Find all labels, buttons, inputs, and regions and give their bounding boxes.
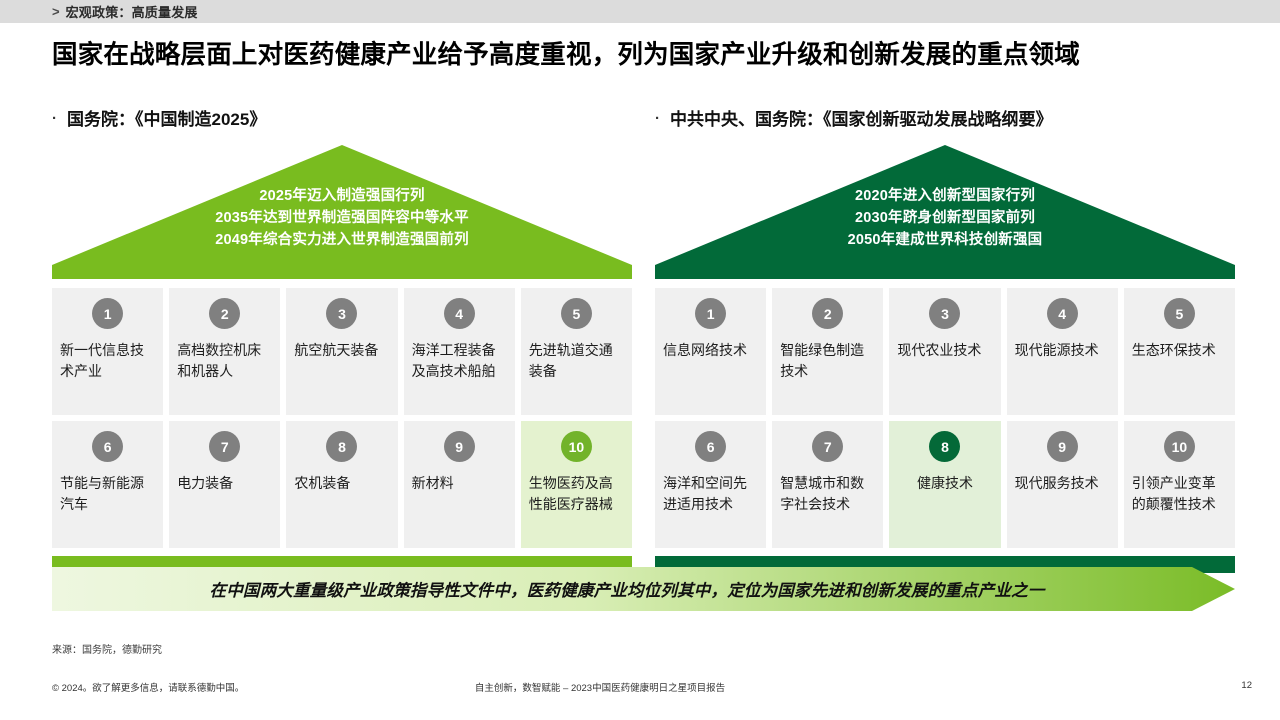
cell-label: 智慧城市和数字社会技术: [780, 473, 875, 515]
roof-base-bar-right: [655, 265, 1235, 279]
policy-cell[interactable]: 3 航空航天装备: [286, 288, 397, 415]
cell-label: 海洋和空间先进适用技术: [663, 473, 758, 515]
source-note: 来源：国务院，德勤研究: [52, 641, 162, 656]
cell-number-badge: 7: [812, 431, 843, 462]
cell-label: 新材料: [412, 473, 507, 494]
cell-label: 引领产业变革的颠覆性技术: [1132, 473, 1227, 515]
roof-goal-text-right: 2020年进入创新型国家行列 2030年跻身创新型国家前列 2050年建成世界科…: [655, 185, 1235, 251]
panel-heading-label: 国务院：《中国制造2025》: [67, 105, 266, 130]
policy-cell[interactable]: 10 引领产业变革的颠覆性技术: [1124, 421, 1235, 548]
conclusion-banner: 在中国两大重量级产业政策指导性文件中，医药健康产业均位列其中，定位为国家先进和创…: [52, 567, 1235, 611]
policy-panel-innovation-strategy: · 中共中央、国务院：《国家创新驱动发展战略纲要》 2020年进入创新型国家行列…: [655, 105, 1235, 573]
cell-grid-left-row1: 1 新一代信息技术产业 2 高档数控机床和机器人 3 航空航天装备 4 海洋工程…: [52, 288, 632, 415]
policy-cell[interactable]: 9 现代服务技术: [1007, 421, 1118, 548]
conclusion-text: 在中国两大重量级产业政策指导性文件中，医药健康产业均位列其中，定位为国家先进和创…: [52, 567, 1202, 611]
breadcrumb: > 宏观政策：高质量发展: [0, 0, 1280, 23]
policy-cell[interactable]: 7 智慧城市和数字社会技术: [772, 421, 883, 548]
policy-cell[interactable]: 5 先进轨道交通装备: [521, 288, 632, 415]
roof-triangle-left: 2025年迈入制造强国行列 2035年达到世界制造强国阵容中等水平 2049年综…: [52, 145, 632, 265]
cell-grid-right-row1: 1 信息网络技术 2 智能绿色制造技术 3 现代农业技术 4 现代能源技术 5 …: [655, 288, 1235, 415]
policy-cell-highlighted[interactable]: 8 健康技术: [889, 421, 1000, 548]
cell-label: 先进轨道交通装备: [529, 340, 624, 382]
policy-cell[interactable]: 5 生态环保技术: [1124, 288, 1235, 415]
cell-number-badge: 7: [209, 431, 240, 462]
roof-goal-line: 2049年综合实力进入世界制造强国前列: [52, 229, 632, 251]
roof-triangle-right: 2020年进入创新型国家行列 2030年跻身创新型国家前列 2050年建成世界科…: [655, 145, 1235, 265]
panel-heading-label: 中共中央、国务院：《国家创新驱动发展战略纲要》: [670, 105, 1053, 130]
cell-number-badge: 10: [1164, 431, 1195, 462]
cell-label: 现代能源技术: [1015, 340, 1110, 361]
cell-label: 现代农业技术: [897, 340, 992, 361]
policy-cell[interactable]: 4 现代能源技术: [1007, 288, 1118, 415]
policy-cell[interactable]: 2 智能绿色制造技术: [772, 288, 883, 415]
policy-cell[interactable]: 6 海洋和空间先进适用技术: [655, 421, 766, 548]
cell-grid-left-row2: 6 节能与新能源汽车 7 电力装备 8 农机装备 9 新材料 10 生物医药及高…: [52, 421, 632, 548]
bullet-icon: ·: [655, 111, 660, 126]
cell-number-badge: 1: [695, 298, 726, 329]
cell-number-badge: 3: [326, 298, 357, 329]
cell-label: 健康技术: [917, 473, 973, 494]
cell-label: 生物医药及高性能医疗器械: [529, 473, 624, 515]
cell-number-badge: 2: [812, 298, 843, 329]
bullet-icon: ·: [52, 111, 57, 126]
footer-page-number: 12: [1241, 680, 1252, 691]
policy-cell[interactable]: 3 现代农业技术: [889, 288, 1000, 415]
roof-goal-line: 2020年进入创新型国家行列: [655, 185, 1235, 207]
panel-heading-left: · 国务院：《中国制造2025》: [52, 105, 632, 133]
footer: © 2024。欲了解更多信息，请联系德勤中国。 自主创新，数智赋能 – 2023…: [0, 680, 1280, 698]
policy-cell[interactable]: 9 新材料: [404, 421, 515, 548]
cell-number-badge: 4: [444, 298, 475, 329]
cell-number-badge: 8: [929, 431, 960, 462]
cell-number-badge: 3: [929, 298, 960, 329]
chevron-right-icon: >: [52, 5, 60, 18]
cell-label: 生态环保技术: [1132, 340, 1227, 361]
cell-label: 智能绿色制造技术: [780, 340, 875, 382]
policy-cell[interactable]: 7 电力装备: [169, 421, 280, 548]
cell-number-badge: 9: [1047, 431, 1078, 462]
cell-label: 海洋工程装备及高技术船舶: [412, 340, 507, 382]
roof-goal-line: 2050年建成世界科技创新强国: [655, 229, 1235, 251]
cell-number-badge: 5: [1164, 298, 1195, 329]
cell-label: 农机装备: [294, 473, 389, 494]
cell-number-badge: 10: [561, 431, 592, 462]
breadcrumb-label: 宏观政策：高质量发展: [66, 2, 198, 21]
cell-number-badge: 2: [209, 298, 240, 329]
cell-number-badge: 5: [561, 298, 592, 329]
roof-goal-line: 2025年迈入制造强国行列: [52, 185, 632, 207]
page-title: 国家在战略层面上对医药健康产业给予高度重视，列为国家产业升级和创新发展的重点领域: [52, 34, 1242, 71]
cell-number-badge: 1: [92, 298, 123, 329]
policy-cell-highlighted[interactable]: 10 生物医药及高性能医疗器械: [521, 421, 632, 548]
policy-panel-made-in-china: · 国务院：《中国制造2025》 2025年迈入制造强国行列 2035年达到世界…: [52, 105, 632, 573]
cell-label: 信息网络技术: [663, 340, 758, 361]
cell-label: 现代服务技术: [1015, 473, 1110, 494]
cell-number-badge: 8: [326, 431, 357, 462]
cell-label: 高档数控机床和机器人: [177, 340, 272, 382]
cell-number-badge: 6: [92, 431, 123, 462]
roof-goal-text-left: 2025年迈入制造强国行列 2035年达到世界制造强国阵容中等水平 2049年综…: [52, 185, 632, 251]
policy-cell[interactable]: 1 新一代信息技术产业: [52, 288, 163, 415]
policy-cell[interactable]: 2 高档数控机床和机器人: [169, 288, 280, 415]
footer-report-title: 自主创新，数智赋能 – 2023中国医药健康明日之星项目报告: [0, 680, 1280, 694]
cell-label: 电力装备: [177, 473, 272, 494]
cell-number-badge: 4: [1047, 298, 1078, 329]
policy-cell[interactable]: 1 信息网络技术: [655, 288, 766, 415]
panel-heading-right: · 中共中央、国务院：《国家创新驱动发展战略纲要》: [655, 105, 1235, 133]
cell-label: 新一代信息技术产业: [60, 340, 155, 382]
cell-label: 节能与新能源汽车: [60, 473, 155, 515]
cell-number-badge: 6: [695, 431, 726, 462]
policy-cell[interactable]: 4 海洋工程装备及高技术船舶: [404, 288, 515, 415]
cell-number-badge: 9: [444, 431, 475, 462]
roof-goal-line: 2030年跻身创新型国家前列: [655, 207, 1235, 229]
policy-cell[interactable]: 6 节能与新能源汽车: [52, 421, 163, 548]
roof-goal-line: 2035年达到世界制造强国阵容中等水平: [52, 207, 632, 229]
cell-grid-right-row2: 6 海洋和空间先进适用技术 7 智慧城市和数字社会技术 8 健康技术 9 现代服…: [655, 421, 1235, 548]
policy-cell[interactable]: 8 农机装备: [286, 421, 397, 548]
roof-base-bar-left: [52, 265, 632, 279]
cell-label: 航空航天装备: [294, 340, 389, 361]
